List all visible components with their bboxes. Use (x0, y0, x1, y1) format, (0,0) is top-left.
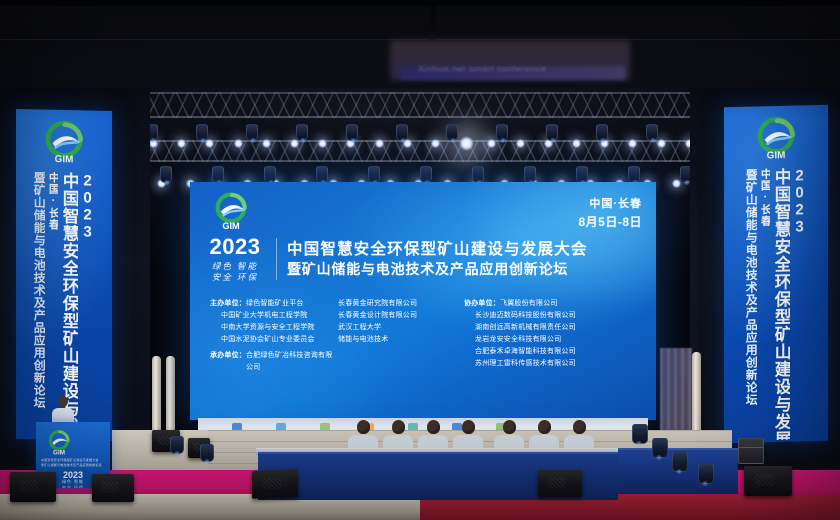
host-column-1: 主办单位：绿色智能矿业平台 中国矿业大学机电工程学院 中南大学资源与安全工程学院… (210, 298, 338, 374)
moving-head-light (264, 166, 276, 183)
stage-light (672, 179, 681, 188)
participant-head (538, 420, 551, 434)
floor-monitor (92, 474, 134, 502)
gim-china-logo: GIM (38, 119, 90, 166)
banner-right-year: 2023 (792, 167, 807, 439)
coorganizer-org: 湖南创远高新机械有限责任公司 (464, 322, 644, 334)
banner-right-location: 中国·长春 (759, 168, 770, 440)
moving-head-light (316, 166, 328, 183)
vertical-banner-left: GIM 2023 中国智慧安全环保型矿山建设与发展大会 中国·长春 暨矿山储能与… (16, 109, 112, 441)
led-screen: GIM 中国·长春 8月5日-8日 2023 绿色 智能 安全 环保 中国智慧安… (190, 182, 656, 420)
moving-head-light (200, 444, 214, 462)
conference-stage-photo: Xinhua.net smart conference GIM 2023 中国智… (0, 0, 840, 520)
participant-head (573, 420, 586, 434)
host-org: 中国水泥协会矿山专业委员会 (210, 334, 338, 346)
participant-head (503, 420, 516, 434)
stage-light (657, 139, 666, 148)
coorganizer-label: 协办单位： (464, 298, 500, 310)
host-label: 主办单位： (210, 298, 246, 310)
svg-text:GIM: GIM (222, 221, 240, 231)
moving-head-light (546, 124, 558, 141)
coorganizer-org: 合肥泰禾卓海智能科技有限公司 (464, 346, 644, 358)
moving-head-light (496, 124, 508, 141)
banner-right-title: 中国智慧安全环保型矿山建设与发展大会 (772, 168, 789, 440)
undertaker-org: 合肥绿色矿冶科技咨询有限公司 (246, 350, 338, 374)
moving-head-light (170, 436, 184, 454)
moving-head-light (212, 166, 224, 183)
svg-text:GIM: GIM (55, 154, 74, 165)
moving-head-light (160, 166, 172, 183)
undertaker-label: 承办单位： (210, 350, 246, 374)
participant-head (392, 420, 405, 434)
ceiling-blurred-text: Xinhua.net smart conference (418, 65, 547, 74)
moving-head-light (672, 452, 688, 472)
moving-head-light (628, 166, 640, 183)
host-column-2: 长春黄金研究院有限公司 长春黄金设计院有限公司 武汉工程大学 储能与电池技术 (338, 298, 456, 374)
event-slogan-line1: 绿色 智能 (204, 261, 266, 272)
participant-head (427, 420, 440, 434)
stage-light (234, 139, 243, 148)
vertical-banner-right: GIM 2023 中国智慧安全环保型矿山建设与发展大会 中国·长春 暨矿山储能与… (724, 105, 828, 444)
gim-china-logo: GIM (750, 115, 802, 162)
floor-monitor (538, 470, 582, 497)
moving-head-light (632, 424, 648, 444)
banner-left-subtitle: 暨矿山储能与电池技术及产品应用创新论坛 (33, 171, 45, 437)
moving-head-light (196, 124, 208, 141)
host-org: 储能与电池技术 (338, 334, 456, 346)
moving-head-light (524, 166, 536, 183)
coorganizer-org: 苏州理工雷科传感技术有限公司 (464, 358, 644, 370)
floor-monitor (744, 466, 792, 496)
event-year: 2023 (204, 236, 266, 258)
stage-light (262, 139, 271, 148)
coorganizer-org: 龙岩龙安安全科技有限公司 (464, 334, 644, 346)
moving-head-light (596, 124, 608, 141)
moving-head-light (368, 166, 380, 183)
event-dates: 8月5日-8日 (578, 213, 642, 231)
event-title-main: 中国智慧安全环保型矿山建设与发展大会 (287, 240, 646, 259)
floor-monitor (10, 472, 56, 502)
moving-head-light (296, 124, 308, 141)
moving-head-light (576, 166, 588, 183)
floor-monitor (252, 469, 298, 499)
event-location: 中国·长春 (578, 196, 642, 213)
stage-light (375, 139, 384, 148)
road-case (738, 438, 764, 464)
podium-title-line2: 暨矿山储能与电池技术及产品应用创新论坛 (41, 463, 105, 468)
banner-left-year: 2023 (80, 172, 95, 438)
event-slogan-line2: 安全 环保 (204, 272, 266, 283)
svg-text:GIM: GIM (53, 450, 65, 456)
coorganizer-org: 长沙迪迈数码科技股份有限公司 (464, 310, 644, 322)
moving-head-light (446, 124, 458, 141)
title-divider (276, 238, 277, 280)
moving-head-light (420, 166, 432, 183)
participant-head (462, 420, 475, 434)
organizers-block: 主办单位：绿色智能矿业平台 中国矿业大学机电工程学院 中南大学资源与安全工程学院… (210, 298, 644, 374)
moving-head-light (346, 124, 358, 141)
host-org: 长春黄金设计院有限公司 (338, 310, 456, 322)
event-year-block: 2023 绿色 智能 安全 环保 (204, 236, 266, 282)
coorganizer-column: 协办单位：飞翼股份有限公司 长沙迪迈数码科技股份有限公司 湖南创远高新机械有限责… (456, 298, 644, 374)
svg-text:GIM: GIM (767, 150, 786, 161)
participant-head (357, 420, 370, 434)
moving-head-light (396, 124, 408, 141)
moving-head-light (472, 166, 484, 183)
event-location-block: 中国·长春 8月5日-8日 (578, 196, 642, 231)
host-org: 中南大学资源与安全工程学院 (210, 322, 338, 334)
moving-head-light (646, 124, 658, 141)
event-titles: 中国智慧安全环保型矿山建设与发展大会 暨矿山储能与电池技术及产品应用创新论坛 (287, 240, 646, 278)
moving-head-light (698, 464, 714, 484)
gim-china-logo: GIM (208, 192, 254, 232)
ceiling-band: Xinhua.net smart conference (0, 0, 840, 88)
coorganizer-org: 飞翼股份有限公司 (500, 298, 558, 310)
moving-head-light (652, 438, 668, 458)
banner-right-subtitle: 暨矿山储能与电池技术及产品应用创新论坛 (745, 168, 757, 440)
stage-light (516, 139, 525, 148)
stage-light (572, 139, 581, 148)
event-title-row: 2023 绿色 智能 安全 环保 中国智慧安全环保型矿山建设与发展大会 暨矿山储… (204, 236, 646, 282)
host-org: 长春黄金研究院有限公司 (338, 298, 456, 310)
host-org: 中国矿业大学机电工程学院 (210, 310, 338, 322)
event-title-sub: 暨矿山储能与电池技术及产品应用创新论坛 (287, 260, 646, 278)
host-org: 绿色智能矿业平台 (246, 298, 304, 310)
gim-china-logo: GIM (44, 430, 74, 456)
stage-light (431, 139, 440, 148)
moving-head-light (246, 124, 258, 141)
host-org: 武汉工程大学 (338, 322, 456, 334)
